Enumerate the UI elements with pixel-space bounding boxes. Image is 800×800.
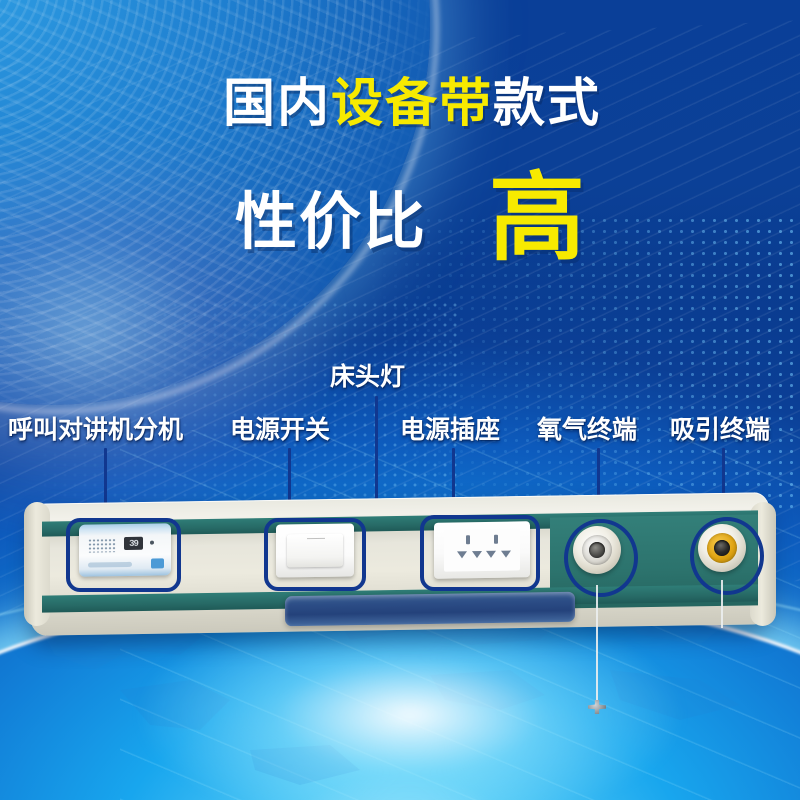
pull-cord-oxygen [596, 585, 598, 705]
callout-label-intercom: 呼叫对讲机分机 [8, 410, 183, 446]
headline-part-1: 国内 [223, 78, 331, 130]
highlight-box-socket [420, 515, 540, 591]
callout-label-socket: 电源插座 [400, 410, 500, 446]
headline-block: 国内设备带款式 性价比 高 [0, 78, 800, 130]
headline-highlight: 设备带 [331, 78, 493, 130]
headline-line-2: 性价比 高 [0, 168, 800, 261]
headline-part-2: 款式 [493, 78, 601, 130]
highlight-ring-suction [690, 517, 764, 595]
highlight-box-switch [264, 518, 366, 591]
headline-gao-text: 高 [489, 176, 585, 262]
callout-label-oxygen: 氧气终端 [537, 410, 637, 446]
poster-canvas: 国内设备带款式 性价比 高 呼叫对讲机分机 电源开关 床头灯 电源插座 氧气终端… [0, 0, 800, 800]
headline-value-text: 性价比 [235, 171, 427, 261]
highlight-ring-oxygen [564, 519, 638, 597]
callout-label-switch: 电源开关 [230, 410, 330, 446]
highlight-box-intercom [66, 518, 181, 592]
callout-label-suction: 吸引终端 [670, 410, 770, 446]
headline-line-1: 国内设备带款式 [0, 78, 800, 130]
halftone-dots-left [40, 300, 460, 500]
bedside-lamp-strip[interactable] [285, 592, 575, 627]
callout-label-bedlamp: 床头灯 [330, 357, 405, 393]
pull-cord-suction [721, 580, 723, 628]
